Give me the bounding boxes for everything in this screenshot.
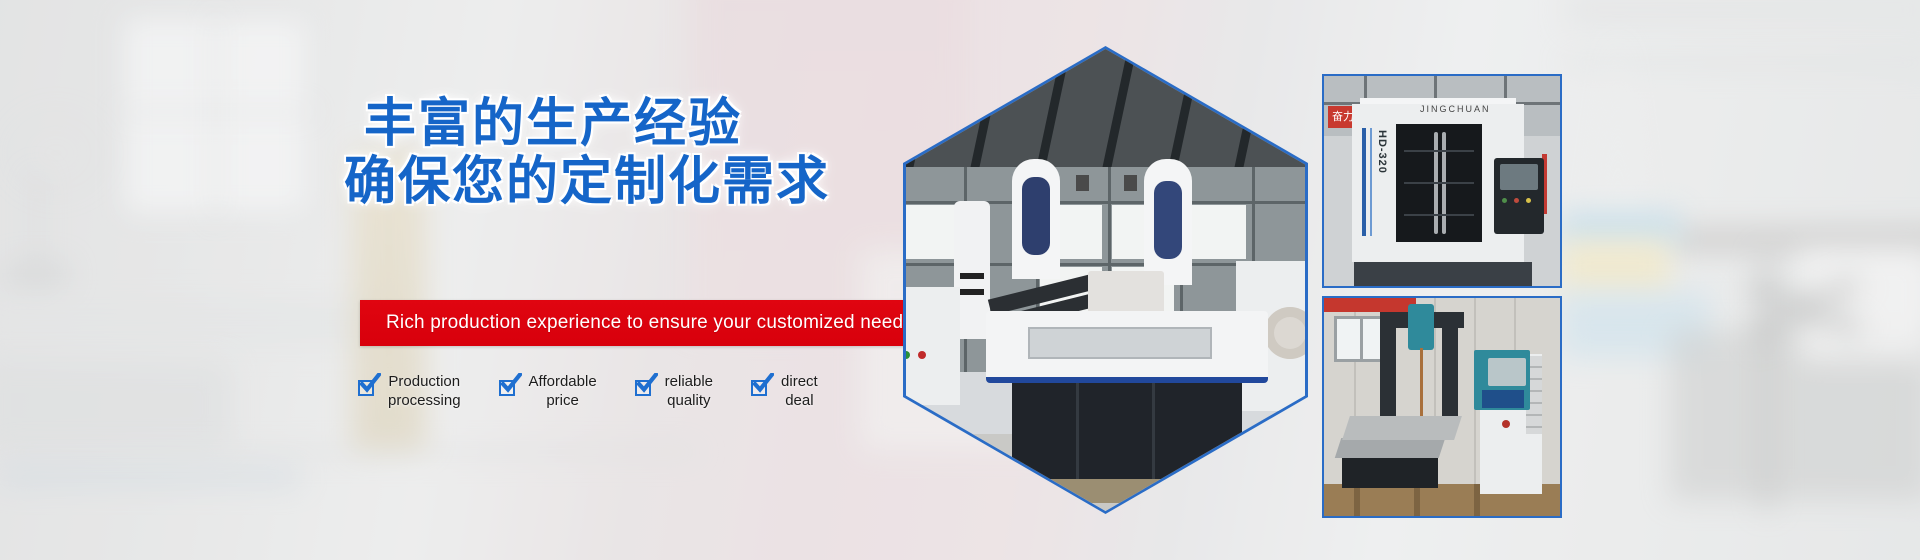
feature-item-direct-deal[interactable]: direct deal — [751, 372, 818, 410]
feature-label: reliable quality — [665, 372, 713, 410]
thumb-machine-base — [1354, 262, 1532, 286]
subtitle-banner: Rich production experience to ensure you… — [360, 300, 905, 346]
headline-block: 丰富的生产经验 确保您的定制化需求 — [300, 96, 920, 212]
photo-machine-base — [1012, 367, 1242, 479]
cnc-machining-center-photo[interactable]: 奋力 JINGCHUAN HD-320 — [1322, 74, 1562, 288]
thumb-machine-door — [1396, 124, 1482, 242]
photo-machine-column-mid — [1012, 159, 1060, 279]
thumb-blue-stripe — [1362, 128, 1366, 236]
photo-control-box — [906, 287, 960, 405]
thumb2-control-keypad — [1482, 390, 1524, 408]
feature-label: Production processing — [388, 372, 461, 410]
thumb2-gantry-right — [1442, 314, 1458, 422]
feature-label: Affordable price — [529, 372, 597, 410]
photo-machine-column-right — [1144, 159, 1192, 285]
feature-label: direct deal — [781, 372, 818, 410]
checkbox-checked-icon — [358, 378, 378, 398]
thumb2-wall-banner — [1324, 298, 1416, 312]
checkbox-checked-icon — [635, 378, 655, 398]
thumb2-table-base — [1342, 456, 1438, 488]
thumb2-wire — [1420, 348, 1423, 420]
thumb-button-red — [1514, 198, 1519, 203]
feature-item-production-processing[interactable]: Production processing — [358, 372, 461, 410]
thumb2-cutting-head — [1408, 304, 1434, 350]
feature-list: Production processing Affordable price r… — [358, 372, 818, 410]
thumb-model-label: HD-320 — [1370, 130, 1388, 194]
thumb-brand-label: JINGCHUAN — [1420, 104, 1478, 116]
thumb2-gantry-left — [1380, 314, 1396, 426]
edm-wire-cut-machine-photo[interactable] — [1322, 296, 1562, 518]
headline-line-1: 丰富的生产经验 — [364, 96, 742, 153]
thumb2-table-top — [1342, 416, 1462, 440]
checkbox-checked-icon — [499, 378, 519, 398]
thumb2-table-mid — [1335, 438, 1445, 458]
photo-machine-table — [986, 311, 1268, 383]
thumb2-control-screen — [1488, 358, 1526, 386]
headline-line-2: 确保您的定制化需求 — [344, 154, 920, 212]
cnc-double-column-machine-photo — [906, 49, 1305, 511]
subtitle-text: Rich production experience to ensure you… — [360, 312, 913, 334]
thumb-control-screen — [1500, 164, 1538, 190]
feature-item-reliable-quality[interactable]: reliable quality — [635, 372, 713, 410]
hero-banner: 丰富的生产经验 确保您的定制化需求 Rich production experi… — [0, 0, 1920, 560]
thumb2-emergency-stop — [1502, 420, 1510, 428]
thumb-button-green — [1502, 198, 1507, 203]
feature-item-affordable-price[interactable]: Affordable price — [499, 372, 597, 410]
page-title: 丰富的生产经验 确保您的定制化需求 — [300, 96, 920, 212]
thumb-button-yellow — [1526, 198, 1531, 203]
hexagon-photo-frame[interactable] — [903, 46, 1308, 514]
checkbox-checked-icon — [751, 378, 771, 398]
photo-roof — [906, 49, 1305, 177]
